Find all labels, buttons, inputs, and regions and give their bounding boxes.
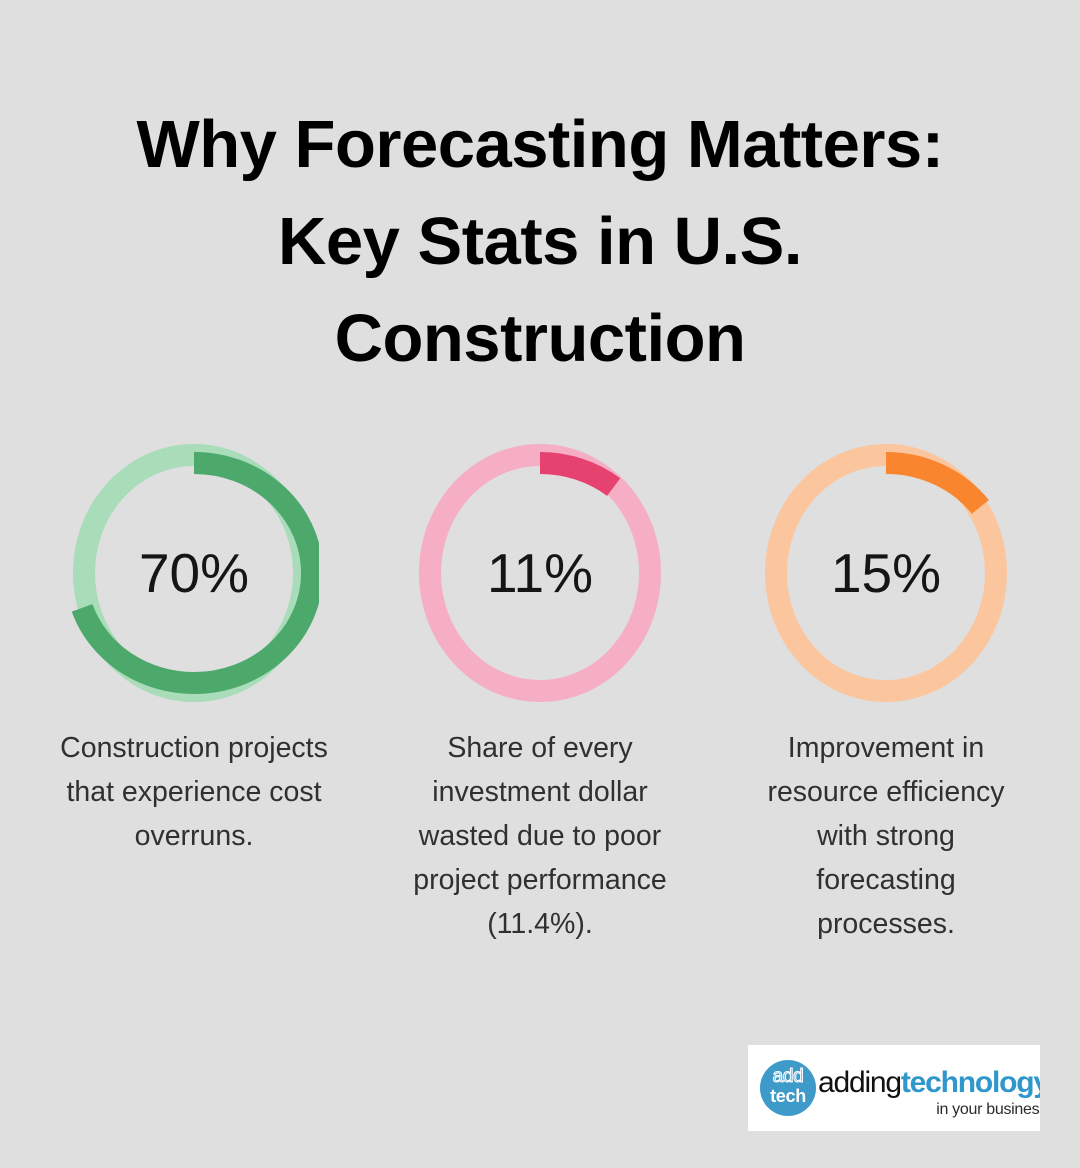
logo-mark-tech-text: tech	[760, 1087, 816, 1106]
donut-value-2: 11%	[415, 440, 665, 706]
logo-tagline: in your business	[818, 1101, 1040, 1119]
logo-mark-add-text: add	[760, 1067, 816, 1086]
logo-text-group: addingtechnology® in your business	[812, 1058, 1040, 1119]
title-line-1: Why Forecasting Matters:	[70, 96, 1010, 193]
stat-card-cost-overruns: 70% Construction projects that experienc…	[44, 440, 344, 858]
stat-caption-2: Share of every investment dollar wasted …	[405, 726, 675, 946]
stat-caption-3: Improvement in resource efficiency with …	[751, 726, 1021, 946]
page-title: Why Forecasting Matters: Key Stats in U.…	[0, 96, 1080, 387]
donut-chart-1: 70%	[69, 440, 319, 706]
logo-wordmark: addingtechnology®	[818, 1062, 1040, 1099]
infographic-canvas: Why Forecasting Matters: Key Stats in U.…	[0, 0, 1080, 1168]
stats-row: 70% Construction projects that experienc…	[0, 440, 1080, 946]
addtech-circle-icon: add tech	[760, 1060, 816, 1116]
donut-value-1: 70%	[69, 440, 319, 706]
title-line-3: Construction	[70, 290, 1010, 387]
logo-word-technology: technology	[901, 1066, 1040, 1099]
donut-chart-3: 15%	[761, 440, 1011, 706]
title-line-2: Key Stats in U.S.	[70, 193, 1010, 290]
donut-value-3: 15%	[761, 440, 1011, 706]
donut-chart-2: 11%	[415, 440, 665, 706]
stat-card-wasted-investment: 11% Share of every investment dollar was…	[390, 440, 690, 946]
stat-caption-1: Construction projects that experience co…	[59, 726, 329, 858]
stat-card-resource-efficiency: 15% Improvement in resource efficiency w…	[736, 440, 1036, 946]
brand-logo: add tech addingtechnology® in your busin…	[748, 1045, 1040, 1131]
logo-word-adding: adding	[818, 1066, 901, 1099]
